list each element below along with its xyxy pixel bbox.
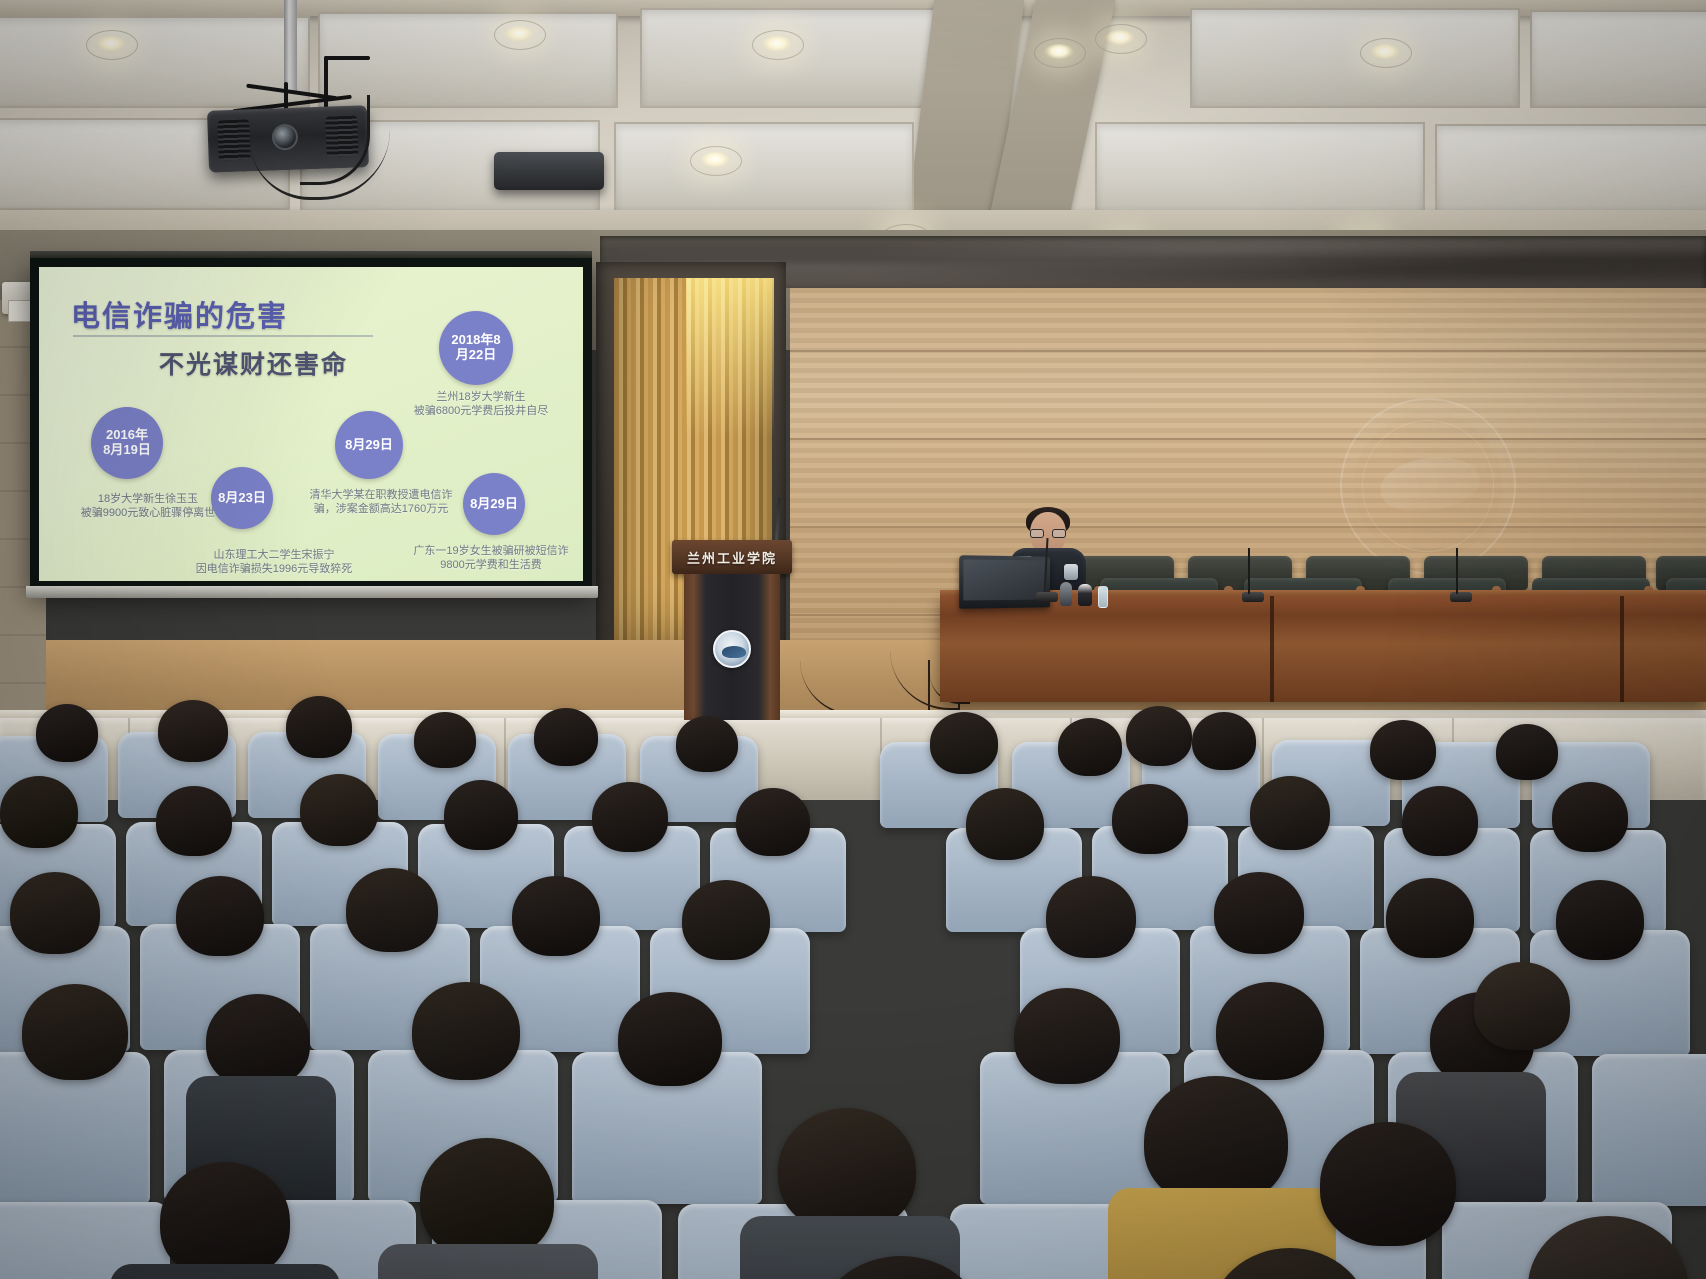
audience-member-head [1112, 784, 1188, 854]
audience-member-head [1216, 982, 1324, 1080]
projector-mount-pole [284, 0, 297, 92]
auditorium-photo: 电信诈骗的危害 不光谋财还害命 2016年 8月19日 8月23日 8月29日 … [0, 0, 1706, 1279]
slide-subtitle: 不光谋财还害命 [159, 345, 348, 381]
audience-member-head [414, 712, 476, 768]
audience-member-head [1046, 876, 1136, 958]
desk-figurine [1078, 584, 1092, 606]
ceiling-coffer [1095, 122, 1425, 218]
audience-member-head [158, 700, 228, 762]
audience-member-head [1556, 880, 1644, 960]
audience-seating [0, 676, 1706, 1279]
audience-member-head [966, 788, 1044, 860]
timeline-caption-0829-a: 清华大学某在职教授遭电信诈 骗，涉案金额高达1760万元 [297, 489, 465, 517]
audience-member-head [22, 984, 128, 1080]
audience-member-torso [110, 1264, 340, 1279]
audience-member-head [444, 780, 518, 850]
police-badge-icon [1064, 564, 1078, 580]
projection-screen: 电信诈骗的危害 不光谋财还害命 2016年 8月19日 8月23日 8月29日 … [30, 258, 592, 590]
audience-member-head [1144, 1076, 1288, 1206]
water-bottle [1098, 586, 1108, 608]
audience-member-head [1214, 872, 1304, 954]
gooseneck-microphone [1248, 548, 1250, 594]
audience-member-head [346, 868, 438, 952]
audience-member-torso [378, 1244, 598, 1279]
audience-member-head [36, 704, 98, 762]
timeline-caption-0829-b: 广东一19岁女生被骗研被短信诈 9800元学费和生活费 [403, 545, 579, 573]
audience-member-head [1386, 878, 1474, 958]
audience-member-head [1192, 712, 1256, 770]
ceiling-spotlight [700, 152, 730, 168]
audience-member-head [534, 708, 598, 766]
timeline-caption-2016-0819: 18岁大学新生徐玉玉 被骗9900元致心脏骤停离世 [53, 493, 243, 521]
ceiling-spotlight [762, 36, 792, 52]
audience-member-head [618, 992, 722, 1086]
audience-member-head [676, 716, 738, 772]
audience-member-head [682, 880, 770, 960]
audience-member-head [1370, 720, 1436, 780]
audience-member-head [10, 872, 100, 954]
ceiling-spotlight [1370, 44, 1400, 60]
audience-member-head [286, 696, 352, 758]
audience-member-head [1058, 718, 1122, 776]
timeline-bubble-2018-0822: 2018年8 月22日 [439, 311, 513, 385]
audience-member-head [736, 788, 810, 856]
slide-title: 电信诈骗的危害 [71, 293, 288, 335]
timeline-bubble-2016-0819: 2016年 8月19日 [91, 407, 163, 479]
audience-member-head [1250, 776, 1330, 850]
audience-member-head [1126, 706, 1192, 766]
ceiling-coffer [318, 12, 618, 108]
podium-school-emblem [713, 630, 751, 668]
podium-inscription: 兰州工业学院 [672, 548, 792, 567]
audience-member-head [1320, 1122, 1456, 1246]
audience-member-head [0, 776, 78, 848]
ceiling-coffer [1530, 10, 1706, 108]
audience-member-head [778, 1108, 916, 1232]
audience-member-head [1014, 988, 1120, 1084]
desk-figurine [1060, 582, 1072, 606]
glasses-icon [1030, 529, 1066, 538]
audience-member-head [412, 982, 520, 1080]
slide-title-underline [73, 335, 373, 337]
microphone-base [1242, 592, 1264, 602]
ceiling-coffer [1190, 8, 1520, 108]
microphone-base [1450, 592, 1472, 602]
audience-member-head [1402, 786, 1478, 856]
audience-member-head [156, 786, 232, 856]
screen-bottom-bar [26, 586, 598, 598]
ceiling-coffer [614, 122, 914, 218]
audience-member-head [930, 712, 998, 774]
timeline-bubble-0829-b: 8月29日 [463, 473, 525, 535]
audience-member-head [420, 1138, 554, 1260]
timeline-bubble-0829-a: 8月29日 [335, 411, 403, 479]
ceiling-spotlight [1105, 30, 1135, 46]
ceiling-speaker [494, 152, 604, 190]
audience-member-head [512, 876, 600, 956]
wall-school-emblem [1340, 398, 1516, 574]
audience-member-head [206, 994, 310, 1088]
auditorium-seat [1592, 1054, 1706, 1206]
timeline-caption-0823: 山东理工大二学生宋振宁 因电信诈骗损失1996元导致猝死 [169, 549, 379, 577]
audience-member-head [1552, 782, 1628, 852]
microphone-base [1036, 592, 1058, 602]
ceiling-spotlight [96, 36, 126, 52]
ceiling-coffer [1435, 124, 1706, 218]
audience-member-head [176, 876, 264, 956]
ceiling-spotlight [504, 26, 534, 42]
presentation-slide: 电信诈骗的危害 不光谋财还害命 2016年 8月19日 8月23日 8月29日 … [39, 267, 583, 581]
audience-member-head [1496, 724, 1558, 780]
gooseneck-microphone [1456, 548, 1458, 594]
ceiling-spotlight [1044, 44, 1074, 60]
timeline-caption-2018-0822: 兰州18岁大学新生 被骗6800元学费后投井自尽 [401, 391, 561, 419]
audience-member-head [300, 774, 378, 846]
audience-member-head [592, 782, 668, 852]
audience-member-head [160, 1162, 290, 1279]
audience-member-head [1474, 962, 1570, 1050]
